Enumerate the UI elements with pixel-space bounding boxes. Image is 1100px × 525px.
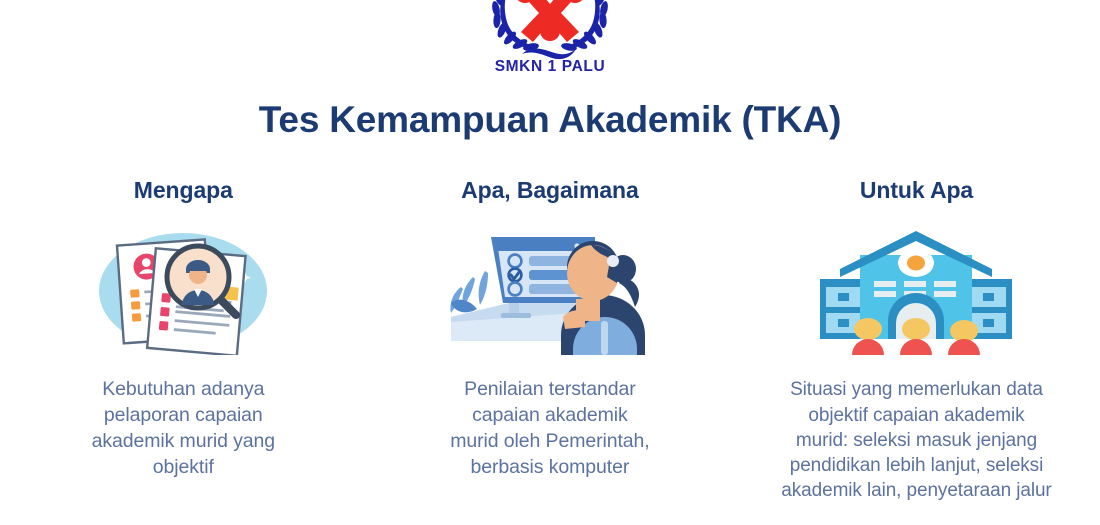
smkn-crest-icon: [475, 0, 625, 60]
column-body: Penilaian terstandar capaian akademik mu…: [450, 377, 649, 481]
school-building-icon: [816, 225, 1016, 355]
column-body: Kebutuhan adanya pelaporan capaian akade…: [92, 377, 275, 481]
student-at-computer-icon: [443, 225, 657, 355]
column-apa-bagaimana: Apa, Bagaimana: [367, 178, 734, 504]
brand-name: SMKN 1 PALU: [495, 58, 606, 76]
slide-root: SMKN 1 PALU Tes Kemampuan Akademik (TKA)…: [0, 0, 1100, 525]
documents-magnifier-icon: [90, 225, 276, 355]
column-mengapa: Mengapa: [0, 178, 367, 504]
column-untuk-apa: Untuk Apa: [733, 178, 1100, 504]
column-heading: Untuk Apa: [860, 178, 973, 203]
columns-row: Mengapa: [0, 178, 1100, 504]
page-title: Tes Kemampuan Akademik (TKA): [0, 99, 1100, 141]
column-body: Situasi yang memerlukan data objektif ca…: [781, 377, 1051, 503]
brand-logo-block: SMKN 1 PALU: [0, 0, 1100, 76]
column-heading: Apa, Bagaimana: [461, 178, 639, 203]
column-heading: Mengapa: [134, 178, 233, 203]
